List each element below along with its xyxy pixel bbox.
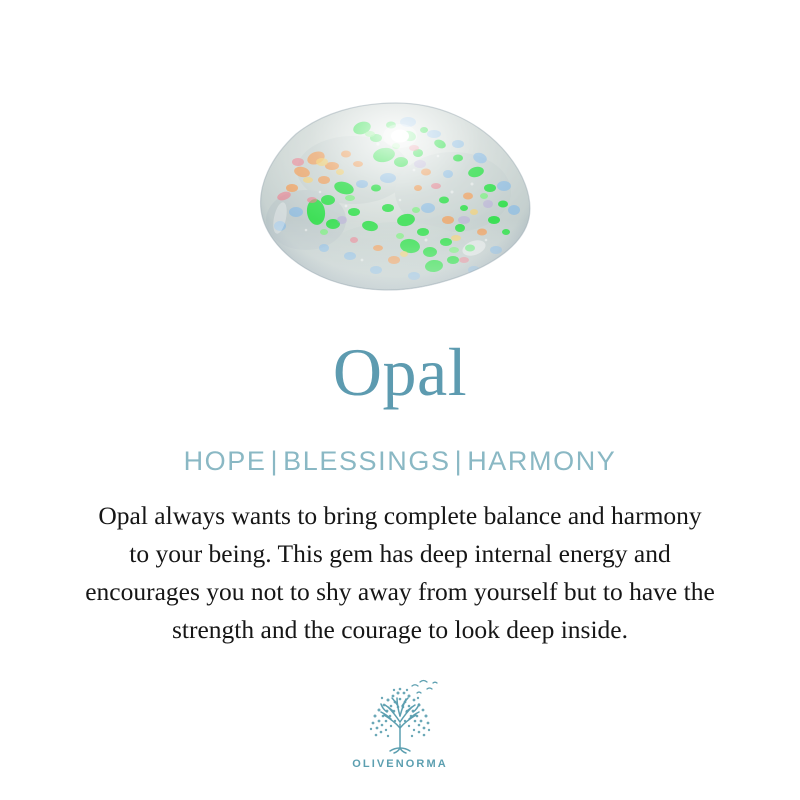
description-paragraph: Opal always wants to bring complete bala… bbox=[22, 497, 778, 649]
gem-image-area bbox=[0, 0, 800, 300]
keyword-separator-2: | bbox=[451, 446, 468, 476]
keyword-hope: HOPE bbox=[184, 446, 267, 476]
keyword-harmony: HARMONY bbox=[467, 446, 616, 476]
brand-wordmark: OLIVENORMA bbox=[352, 758, 448, 770]
description-line: strength and the courage to look deep in… bbox=[22, 611, 778, 649]
gemstone-info-card: Opal HOPE|BLESSINGS|HARMONY Opal always … bbox=[0, 0, 800, 800]
keyword-separator-1: | bbox=[266, 446, 283, 476]
page-title: Opal bbox=[0, 332, 800, 412]
brand-logo: OLIVENORMA bbox=[0, 676, 800, 770]
tree-of-life-icon bbox=[357, 676, 443, 756]
opal-cabochon-icon bbox=[258, 100, 534, 295]
keyword-subtitle: HOPE|BLESSINGS|HARMONY bbox=[0, 444, 800, 478]
description-line: encourages you not to shy away from your… bbox=[22, 573, 778, 611]
description-line: to your being. This gem has deep interna… bbox=[22, 535, 778, 573]
keyword-blessings: BLESSINGS bbox=[283, 446, 450, 476]
description-line: Opal always wants to bring complete bala… bbox=[22, 497, 778, 535]
